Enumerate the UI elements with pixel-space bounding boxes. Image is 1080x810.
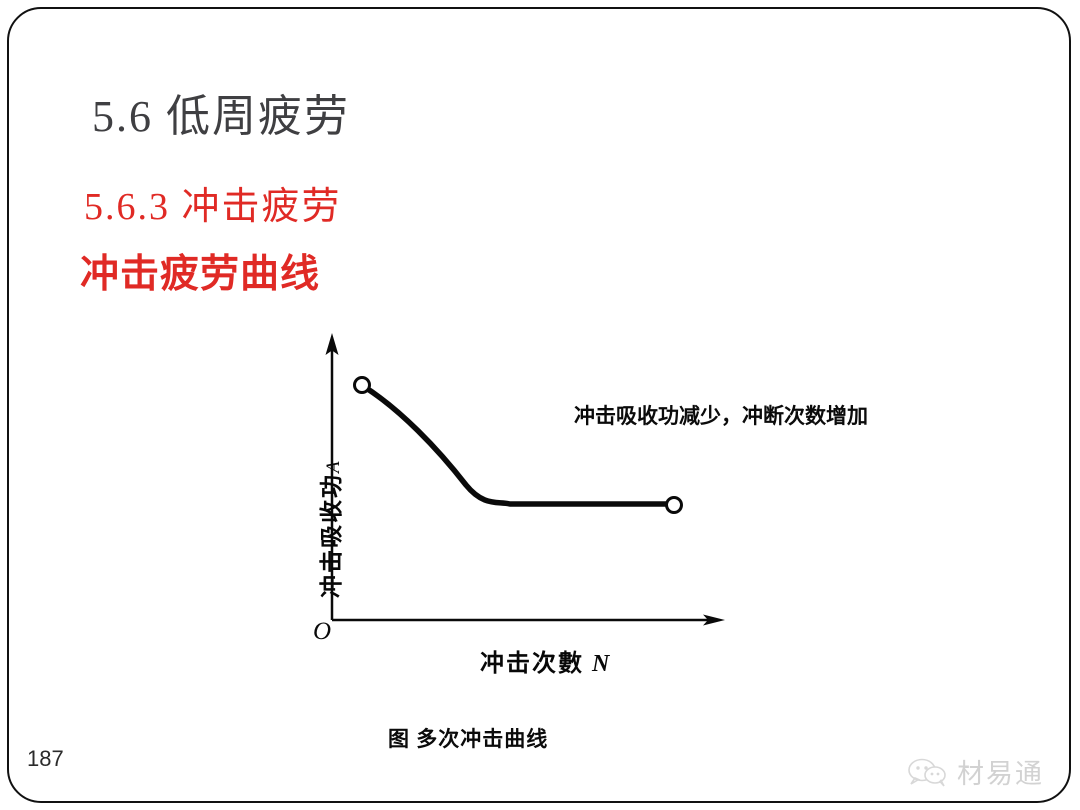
subsection-heading: 冲击疲劳曲线 (80, 243, 320, 299)
section-heading: 5.6.3 冲击疲劳 (84, 175, 342, 230)
wechat-bubble-icon (907, 757, 949, 787)
data-point-marker-end (667, 498, 682, 513)
y-axis-label-symbol: A (323, 459, 344, 473)
page-title: 5.6 低周疲劳 (92, 80, 350, 144)
figure-caption: 图 多次冲击曲线 (388, 723, 548, 753)
x-axis-label-symbol: N (592, 651, 611, 677)
x-axis-label-text: 冲击次數 (480, 651, 584, 677)
y-axis-label-text: 冲击吸收功 (319, 473, 344, 598)
chart-annotation: 冲击吸收功减少，冲断次数增加 (574, 400, 868, 430)
origin-label: O (313, 618, 331, 646)
x-axis-label: 冲击次數 N (480, 643, 611, 678)
data-point-marker-start (355, 378, 370, 393)
slide-canvas: 5.6 低周疲劳 5.6.3 冲击疲劳 冲击疲劳曲线 O 冲击吸收功A 冲击次數 (0, 0, 1080, 810)
y-axis-label: 冲击吸收功A (312, 398, 346, 598)
watermark-text: 材易通 (957, 752, 1044, 791)
page-number: 187 (27, 746, 64, 772)
watermark: 材易通 (907, 752, 1044, 791)
